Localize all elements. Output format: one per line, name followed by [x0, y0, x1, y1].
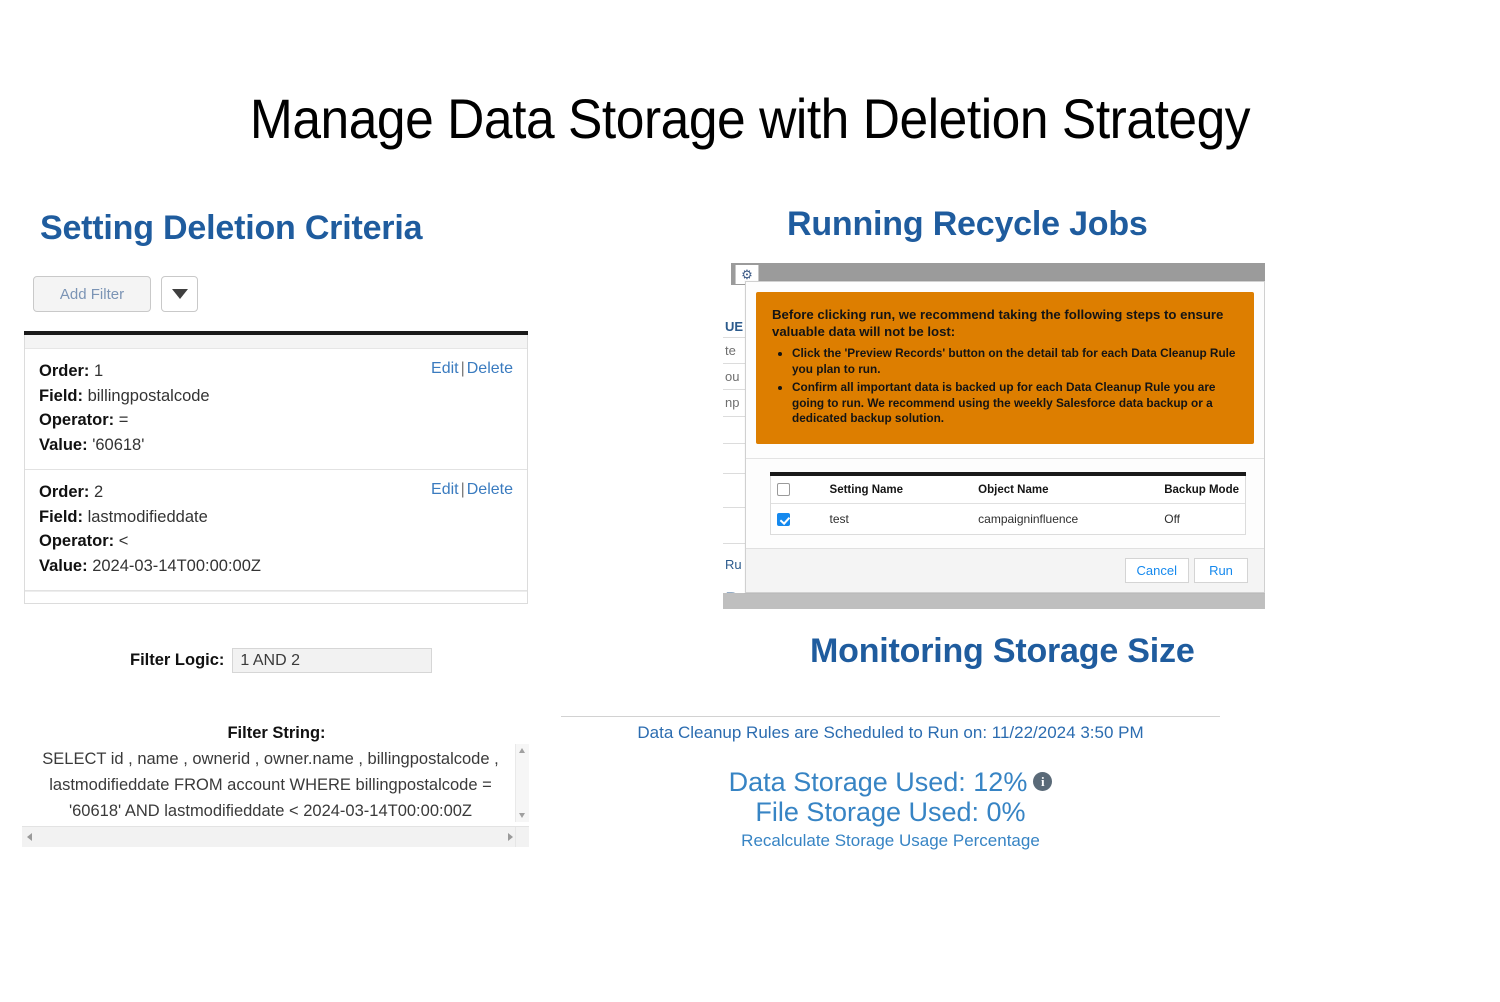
cell-object-name: campaigninfluence — [972, 504, 1158, 535]
data-storage-label: Data Storage Used: 12% — [729, 767, 1028, 797]
monitor-divider — [561, 716, 1220, 717]
action-separator: | — [459, 360, 467, 377]
column-header-object-name: Object Name — [972, 476, 1158, 504]
warning-banner: Before clicking run, we recommend taking… — [756, 292, 1254, 444]
filter-string-label: Filter String: — [0, 724, 553, 743]
table-header-row: Setting Name Object Name Backup Mode — [771, 476, 1245, 504]
cell-setting-name: test — [824, 504, 973, 535]
filter-logic-input[interactable]: 1 AND 2 — [232, 648, 432, 673]
select-all-header — [771, 476, 824, 504]
data-storage-stat: Data Storage Used: 12%i — [561, 767, 1220, 798]
column-header-backup-mode: Backup Mode — [1158, 476, 1245, 504]
section-heading-recycle: Running Recycle Jobs — [787, 205, 1148, 244]
modal-footer: Cancel Run — [746, 548, 1264, 592]
cleanup-rules-table: Setting Name Object Name Backup Mode tes… — [771, 476, 1245, 534]
criteria-field-value: billingpostalcode — [88, 387, 210, 405]
row-actions: Edit|Delete — [431, 360, 513, 378]
warning-heading: Before clicking run, we recommend taking… — [772, 306, 1238, 340]
filter-logic-row: Filter Logic: 1 AND 2 — [130, 648, 432, 673]
column-header-setting-name: Setting Name — [824, 476, 973, 504]
criteria-value-label: Value: — [39, 436, 88, 454]
select-all-checkbox[interactable] — [777, 483, 790, 496]
delete-link[interactable]: Delete — [467, 360, 513, 377]
recycle-jobs-screenshot: ⚙ UE te ou np Ru Data Storage Used: 0% — [723, 263, 1265, 609]
criteria-row: Edit|Delete Order: 1 Field: billingposta… — [25, 349, 527, 470]
criteria-operator-label: Operator: — [39, 411, 114, 429]
recalculate-storage-link[interactable]: Recalculate Storage Usage Percentage — [561, 831, 1220, 851]
criteria-operator-value: = — [119, 411, 129, 429]
criteria-operator-value: < — [119, 532, 129, 550]
scroll-right-icon[interactable] — [508, 833, 513, 841]
warning-bullet: Click the 'Preview Records' button on th… — [792, 346, 1238, 377]
criteria-row: Edit|Delete Order: 2 Field: lastmodified… — [25, 470, 527, 591]
criteria-field-label: Field: — [39, 387, 83, 405]
criteria-field-value: lastmodifieddate — [88, 508, 208, 526]
criteria-order-value: 2 — [94, 483, 103, 501]
criteria-value-value: 2024-03-14T00:00:00Z — [92, 557, 261, 575]
filter-string-box: SELECT id , name , ownerid , owner.name … — [22, 744, 529, 847]
edit-link[interactable]: Edit — [431, 481, 459, 498]
page-title: Manage Data Storage with Deletion Strate… — [60, 88, 1440, 150]
scrollbar-corner — [515, 827, 529, 847]
section-heading-criteria: Setting Deletion Criteria — [40, 209, 422, 248]
filter-string-vertical-scrollbar[interactable] — [515, 744, 529, 822]
run-confirmation-modal: Before clicking run, we recommend taking… — [745, 281, 1265, 593]
info-icon[interactable]: i — [1033, 772, 1052, 791]
scroll-down-icon[interactable] — [519, 813, 525, 818]
file-storage-stat: File Storage Used: 0% — [561, 797, 1220, 828]
add-filter-button[interactable]: Add Filter — [33, 276, 151, 312]
criteria-order-value: 1 — [94, 362, 103, 380]
row-select-cell — [771, 504, 824, 535]
criteria-field-label: Field: — [39, 508, 83, 526]
table-row: test campaigninfluence Off — [771, 504, 1245, 535]
warning-bullet-list: Click the 'Preview Records' button on th… — [772, 346, 1238, 427]
criteria-operator-line: Operator: < — [39, 529, 513, 554]
filter-string-value: SELECT id , name , ownerid , owner.name … — [22, 744, 529, 826]
scroll-left-icon[interactable] — [27, 833, 32, 841]
edit-link[interactable]: Edit — [431, 360, 459, 377]
criteria-order-label: Order: — [39, 362, 89, 380]
chevron-down-icon — [172, 289, 188, 299]
filter-string-horizontal-scrollbar[interactable] — [22, 826, 529, 847]
cleanup-rules-table-wrapper: Setting Name Object Name Backup Mode tes… — [770, 472, 1246, 535]
filter-dropdown-button[interactable] — [161, 276, 198, 312]
criteria-field-line: Field: lastmodifieddate — [39, 505, 513, 530]
criteria-field-line: Field: billingpostalcode — [39, 384, 513, 409]
criteria-operator-line: Operator: = — [39, 408, 513, 433]
cell-backup-mode: Off — [1158, 504, 1245, 535]
criteria-value-label: Value: — [39, 557, 88, 575]
schedule-text: Data Cleanup Rules are Scheduled to Run … — [561, 723, 1220, 743]
slide-canvas: Manage Data Storage with Deletion Strate… — [0, 0, 1500, 1002]
criteria-value-value: '60618' — [92, 436, 144, 454]
action-separator: | — [459, 481, 467, 498]
card-header-strip — [25, 335, 527, 349]
section-heading-monitor: Monitoring Storage Size — [810, 632, 1195, 671]
run-button[interactable]: Run — [1194, 558, 1248, 583]
filter-toolbar: Add Filter — [33, 276, 198, 312]
row-actions: Edit|Delete — [431, 481, 513, 499]
cancel-button[interactable]: Cancel — [1125, 558, 1189, 583]
criteria-value-line: Value: 2024-03-14T00:00:00Z — [39, 554, 513, 579]
screenshot-bottom-bar — [723, 593, 1265, 609]
criteria-operator-label: Operator: — [39, 532, 114, 550]
card-footer-strip — [25, 591, 527, 603]
row-checkbox[interactable] — [777, 513, 790, 526]
deletion-criteria-card: Edit|Delete Order: 1 Field: billingposta… — [24, 331, 528, 604]
scroll-up-icon[interactable] — [519, 748, 525, 753]
criteria-order-label: Order: — [39, 483, 89, 501]
warning-bullet: Confirm all important data is backed up … — [792, 380, 1238, 427]
modal-divider — [746, 458, 1264, 459]
criteria-value-line: Value: '60618' — [39, 433, 513, 458]
delete-link[interactable]: Delete — [467, 481, 513, 498]
filter-logic-label: Filter Logic: — [130, 651, 224, 670]
